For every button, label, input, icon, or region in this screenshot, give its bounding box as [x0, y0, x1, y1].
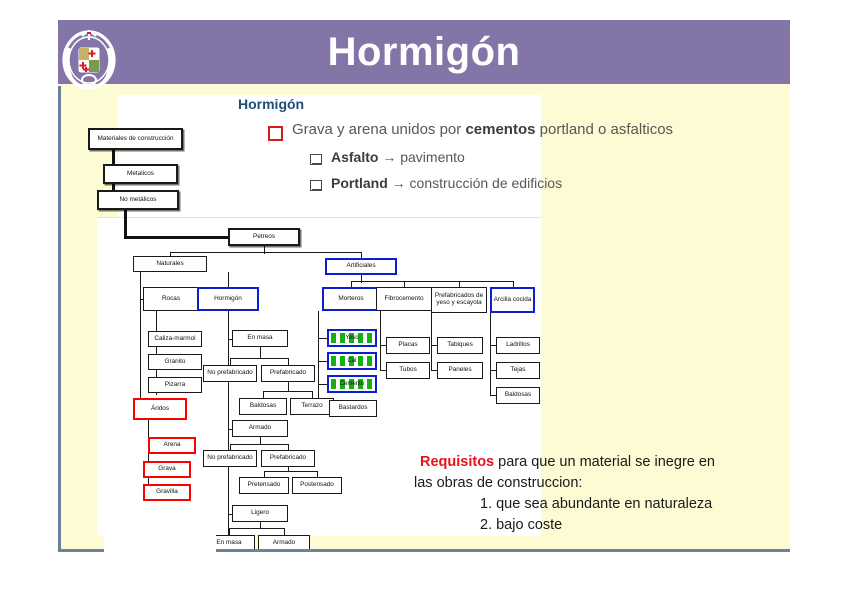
diagram-node: Morteros — [322, 287, 380, 311]
diagram-node: Ligero — [232, 505, 288, 522]
diagram-node-label: Petreos — [253, 234, 275, 241]
diagram-node: Rocas — [143, 287, 199, 311]
diagram-node-label: Armado — [273, 540, 295, 547]
diagram-connector — [229, 528, 230, 535]
diagram-connector — [288, 358, 289, 365]
diagram-node: No prefabricado — [203, 365, 257, 382]
diagram-node: Gravilla — [143, 484, 191, 501]
diagram-node-label: Postensado — [300, 482, 334, 489]
diagram-node: Yeso — [327, 329, 377, 347]
diagram-node: Tabiques — [437, 337, 483, 354]
requisitos-item-1: 1. que sea abundante en naturaleza — [480, 494, 770, 515]
diagram-node-label: Granito — [165, 359, 186, 366]
diagram-node: Armado — [232, 420, 288, 437]
diagram-connector — [140, 272, 141, 410]
diagram-node-label: Gravilla — [156, 489, 178, 496]
diagram-node-label: Pretensado — [248, 482, 281, 489]
diagram-node: Artificiales — [325, 258, 397, 275]
diagram-node-label: No prefabricado — [207, 455, 252, 462]
diagram-node-label: No prefabricado — [207, 370, 252, 377]
diagram-node: No prefabricado — [203, 450, 257, 467]
diagram-node: Petreos — [228, 228, 300, 246]
diagram-node: Grava — [143, 461, 191, 478]
diagram-node-label: Prefabricado — [270, 455, 306, 462]
diagram-node: Bastardos — [329, 400, 377, 417]
diagram-node: Arcilla cocida — [490, 287, 535, 313]
diagram-node: Tejas — [496, 362, 540, 379]
diagram-node-label: Áridos — [151, 406, 169, 413]
diagram-node-label: Yeso — [345, 335, 358, 341]
frame-left-border — [58, 86, 61, 552]
diagram-node-label: Placas — [398, 342, 417, 349]
diagram-node-label: Prefabricado — [270, 370, 306, 377]
diagram-connector — [229, 528, 284, 529]
diagram-connector — [318, 311, 319, 409]
diagram-node-label: Grava — [158, 466, 175, 473]
diagram-node-label: Tejas — [511, 367, 526, 374]
diagram-node: Fibrocemento — [376, 287, 432, 311]
diagram-connector — [263, 391, 264, 398]
diagram-node-label: Terrazo — [301, 403, 322, 410]
diagram-node-label: Naturales — [156, 261, 183, 268]
diagram-node: Postensado — [292, 477, 342, 494]
diagram-connector — [263, 391, 312, 392]
diagram-node-label: Hormigón — [214, 296, 242, 303]
diagram-node-label: Bastardos — [339, 405, 368, 412]
diagram-node: Pretensado — [239, 477, 289, 494]
diagram-connector — [124, 236, 228, 239]
diagram-connector — [230, 358, 288, 359]
slide: Hormigón Hormigón — [0, 0, 848, 599]
frame-notch — [104, 531, 216, 553]
diagram-node-label: Cal — [347, 358, 356, 364]
diagram-connector — [230, 358, 231, 365]
diagram-node-label: Rocas — [162, 296, 180, 303]
diagram-node-label: Metalicos — [127, 171, 154, 178]
diagram-node-label: Ladrillos — [506, 342, 530, 349]
diagram-connector — [312, 391, 313, 398]
diagram-node-label: Tubos — [399, 367, 417, 374]
diagram-node-label: Morteros — [338, 296, 363, 303]
diagram-connector — [431, 313, 432, 371]
diagram-node-label: Artificiales — [346, 263, 375, 270]
diagram-connector — [318, 338, 327, 339]
diagram-node: Pizarra — [148, 377, 202, 393]
diagram-connector — [230, 444, 288, 445]
diagram-connector — [318, 361, 327, 362]
diagram-node: No metálicos — [97, 190, 179, 210]
diagram-connector — [124, 210, 127, 236]
diagram-connector — [148, 420, 149, 493]
diagram-node: Granito — [148, 354, 202, 370]
diagram-node-label: Paneles — [448, 367, 471, 374]
diagram-node-label: Baldosas — [250, 403, 276, 410]
diagram-connector — [318, 384, 327, 385]
diagram-node: Tubos — [386, 362, 430, 379]
diagram-connector — [490, 313, 491, 396]
diagram-node-label: Caliza-marmol — [154, 336, 195, 343]
diagram-node: Paneles — [437, 362, 483, 379]
requisitos-highlight: Requisitos — [420, 454, 494, 470]
diagram-node: Placas — [386, 337, 430, 354]
diagram-node-label: Cemento — [340, 381, 364, 387]
diagram-node-label: Ligero — [251, 510, 269, 517]
diagram-node-label: En masa — [216, 540, 241, 547]
diagram-node-label: Fibrocemento — [384, 296, 423, 303]
diagram-node: Materiales de construcción — [88, 128, 183, 150]
diagram-connector — [170, 252, 361, 253]
diagram-node: Ladrillos — [496, 337, 540, 354]
diagram-node: En masa — [232, 330, 288, 347]
diagram-node: Hormigón — [197, 287, 259, 311]
diagram-node: Áridos — [133, 398, 187, 420]
diagram-node: Prefabricado — [261, 365, 315, 382]
diagram-node-label: Materiales de construcción — [97, 136, 173, 143]
diagram-connector — [380, 311, 381, 371]
diagram-node: Naturales — [133, 256, 207, 272]
diagram-node: Prefabricado — [261, 450, 315, 467]
diagram-node: Arena — [148, 437, 196, 454]
diagram-node-label: En masa — [247, 335, 272, 342]
diagram-connector — [284, 528, 285, 535]
diagram-node: Baldosas — [496, 387, 540, 404]
requisitos-item-2: 2. bajo coste — [480, 515, 770, 536]
diagram-node-label: Baldosas — [505, 392, 531, 399]
diagram-node-label: Arcilla cocida — [494, 297, 532, 304]
diagram-node: Cemento — [327, 375, 377, 393]
diagram-node-label: No metálicos — [120, 197, 157, 204]
diagram-node: Caliza-marmol — [148, 331, 202, 347]
diagram-node: Prefabricados de yeso y escayola — [431, 287, 487, 313]
requisitos-block: Requisitos para que un material se inegr… — [420, 452, 770, 536]
diagram-node: Baldosas — [239, 398, 287, 415]
diagram-node: Metalicos — [103, 164, 178, 184]
diagram-node-label: Armado — [249, 425, 271, 432]
diagram-node: Cal — [327, 352, 377, 370]
diagram-connector — [228, 272, 229, 288]
diagram-connector — [351, 281, 514, 282]
diagram-node-label: Pizarra — [165, 382, 185, 389]
diagram-node-label: Arena — [163, 442, 180, 449]
requisitos-line-2: las obras de construccion: — [414, 473, 770, 494]
diagram-node: Terrazo — [290, 398, 334, 415]
diagram-connector — [264, 471, 317, 472]
diagram-node-label: Tabiques — [447, 342, 473, 349]
diagram-node-label: Prefabricados de yeso y escayola — [433, 293, 485, 307]
requisitos-line-1: Requisitos para que un material se inegr… — [420, 452, 770, 473]
